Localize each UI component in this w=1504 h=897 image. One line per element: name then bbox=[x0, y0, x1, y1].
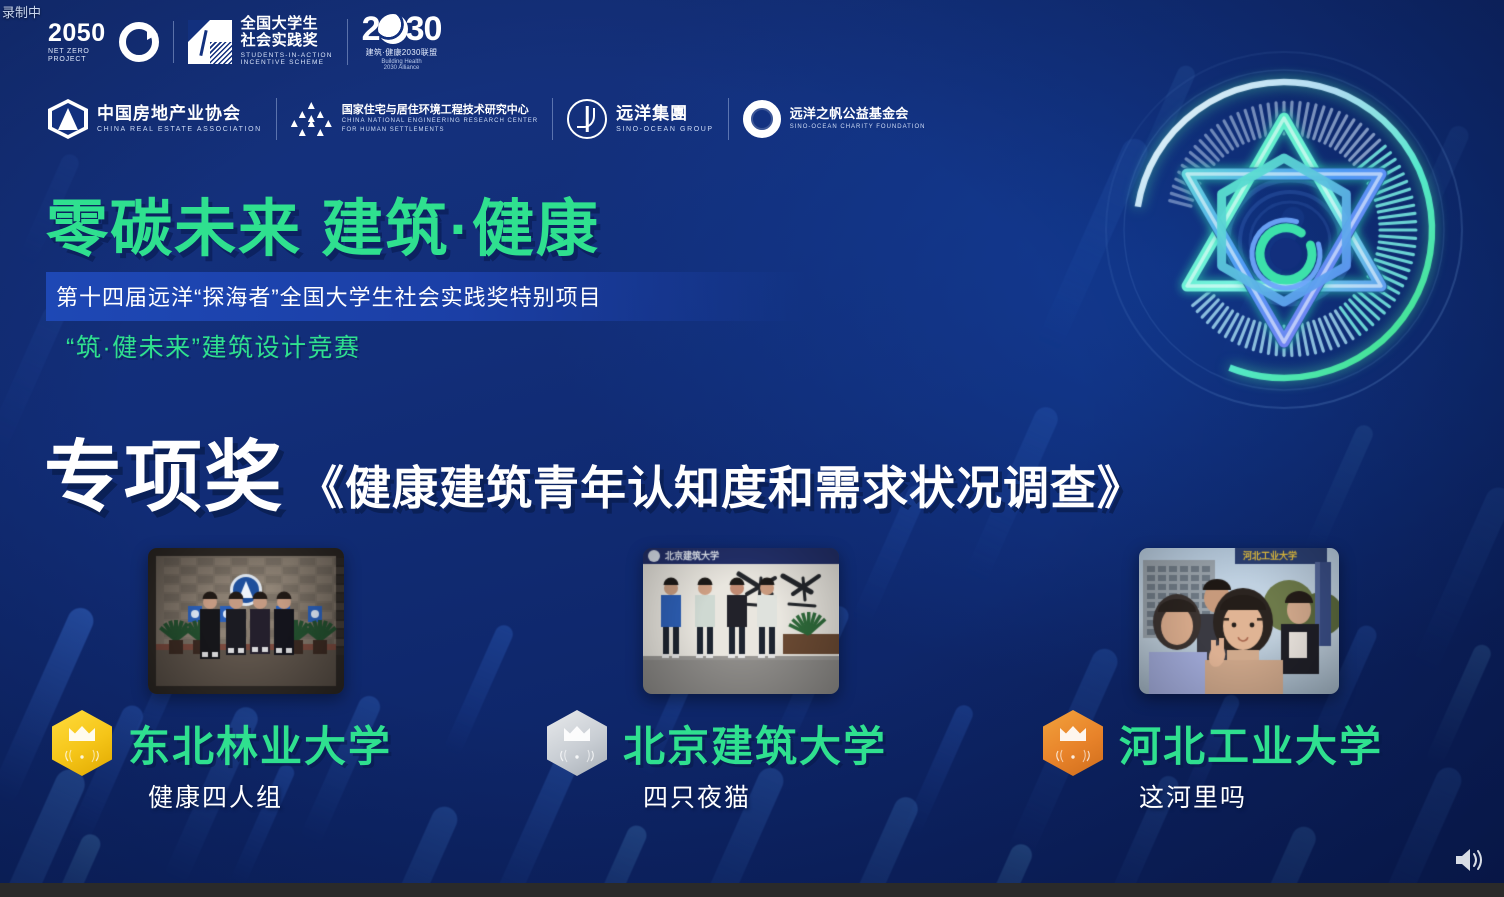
winner-team: 四只夜猫 bbox=[643, 778, 751, 814]
subtitle-banner-text: 第十四届远洋“探海者”全国大学生社会实践奖特别项目 bbox=[56, 285, 602, 310]
logo-cnerc-human-settlements: 国家住宅与居住环境工程技术研究中心 CHINA NATIONAL ENGINEE… bbox=[277, 102, 552, 136]
logo-2030-left: 2 bbox=[362, 12, 380, 46]
sog-cn: 远洋集團 bbox=[616, 104, 714, 124]
logo-sia-cn2: 社会实践奖 bbox=[241, 33, 333, 50]
flower-ring-icon bbox=[743, 100, 781, 138]
team-photo bbox=[1139, 548, 1339, 694]
winner-card: 东北林业大学 健康四人组 bbox=[148, 548, 344, 694]
subtitle-banner: 第十四届远洋“探海者”全国大学生社会实践奖特别项目 bbox=[46, 272, 806, 321]
award-title-row: 专项奖 《健康建筑青年认知度和需求状况调查》 bbox=[44, 415, 1144, 527]
abstract-m-mark-icon bbox=[188, 20, 232, 64]
logo-sia-cn1: 全国大学生 bbox=[241, 16, 333, 33]
winners-list: 东北林业大学 健康四人组 bbox=[0, 548, 1504, 848]
award-subject: 《健康建筑青年认知度和需求状况调查》 bbox=[298, 452, 1144, 518]
recording-indicator: 录制中 bbox=[2, 2, 41, 21]
logo-china-real-estate-association: 中国房地产业协会 CHINA REAL ESTATE ASSOCIATION bbox=[48, 99, 276, 139]
socf-cn: 远洋之帆公益基金会 bbox=[790, 107, 926, 122]
logo-2030-cap1: 建筑·健康2030联盟 bbox=[366, 49, 438, 57]
logo-2050-sub2: PROJECT bbox=[48, 56, 86, 63]
crea-en: CHINA REAL ESTATE ASSOCIATION bbox=[97, 126, 262, 134]
socf-en: SINO-OCEAN CHARITY FOUNDATION bbox=[790, 124, 926, 131]
winner-card: 北京建筑大学 四只夜猫 bbox=[643, 548, 839, 694]
logo-sia-en1: STUDENTS-IN-ACTION bbox=[241, 52, 333, 59]
logo-sino-ocean-charity-foundation: 远洋之帆公益基金会 SINO-OCEAN CHARITY FOUNDATION bbox=[729, 100, 940, 138]
cnerc-en: CHINA NATIONAL ENGINEERING RESEARCH CENT… bbox=[342, 118, 538, 125]
page-title: 零碳未来 建筑·健康 bbox=[46, 178, 600, 268]
gold-hexagon-crown-badge-icon bbox=[52, 710, 112, 776]
speaker-volume-icon[interactable] bbox=[1452, 845, 1486, 875]
window-bottom-bar bbox=[0, 883, 1504, 897]
hexagram-tech-emblem bbox=[1076, 34, 1476, 424]
sog-en: SINO-OCEAN GROUP bbox=[616, 126, 714, 134]
cnerc-en2: FOR HUMAN SETTLEMENTS bbox=[342, 127, 538, 134]
logo-students-in-action: 全国大学生 社会实践奖 STUDENTS-IN-ACTION INCENTIVE… bbox=[174, 16, 347, 66]
logo-building-health-2030: 2 30 建筑·健康2030联盟 Building Health 2030 Al… bbox=[348, 12, 456, 71]
winner-name-row: 东北林业大学 bbox=[52, 710, 572, 776]
logo-bar-primary: 2050 NET ZERO PROJECT 全国大学生 社会实践奖 STUDEN… bbox=[48, 12, 455, 71]
team-photo bbox=[643, 548, 839, 694]
sailboat-oval-icon bbox=[567, 99, 607, 139]
logo-2030-right: 30 bbox=[406, 12, 442, 46]
winner-university: 东北林业大学 bbox=[128, 713, 392, 774]
silver-hexagon-crown-badge-icon bbox=[547, 710, 607, 776]
logo-2030-cap3: 2030 Alliance bbox=[384, 65, 420, 71]
presentation-slide: 录制中 2050 NET ZERO PROJECT 全国大学生 社会实践奖 ST… bbox=[0, 0, 1504, 897]
team-photo bbox=[148, 548, 344, 694]
hexagon-pyramid-icon bbox=[48, 99, 88, 139]
logo-2050-sub1: NET ZERO bbox=[48, 48, 90, 55]
logo-2050-net-zero-project: 2050 NET ZERO PROJECT bbox=[48, 21, 173, 63]
logo-sino-ocean-group: 远洋集團 SINO-OCEAN GROUP bbox=[553, 99, 728, 139]
circular-arrow-icon bbox=[119, 22, 159, 62]
bronze-hexagon-crown-badge-icon bbox=[1043, 710, 1103, 776]
winner-team: 健康四人组 bbox=[148, 778, 283, 814]
cluster-dots-icon bbox=[291, 102, 333, 136]
winner-team: 这河里吗 bbox=[1139, 778, 1247, 814]
logo-sia-en2: INCENTIVE SCHEME bbox=[241, 59, 333, 66]
winner-university: 河北工业大学 bbox=[1119, 713, 1383, 774]
winner-name-row: 北京建筑大学 bbox=[547, 710, 1067, 776]
globe-recycle-icon bbox=[378, 14, 408, 44]
logo-2050-number: 2050 bbox=[48, 21, 106, 46]
subtitle-second: “筑·健未来”建筑设计竞赛 bbox=[66, 328, 360, 364]
winner-university: 北京建筑大学 bbox=[623, 713, 887, 774]
logo-bar-secondary: 中国房地产业协会 CHINA REAL ESTATE ASSOCIATION 国… bbox=[48, 98, 940, 140]
winner-card: 河北工业大学 这河里吗 bbox=[1139, 548, 1339, 694]
crea-cn: 中国房地产业协会 bbox=[97, 104, 262, 124]
winner-name-row: 河北工业大学 bbox=[1043, 710, 1504, 776]
award-name: 专项奖 bbox=[44, 415, 284, 527]
cnerc-cn: 国家住宅与居住环境工程技术研究中心 bbox=[342, 104, 538, 117]
